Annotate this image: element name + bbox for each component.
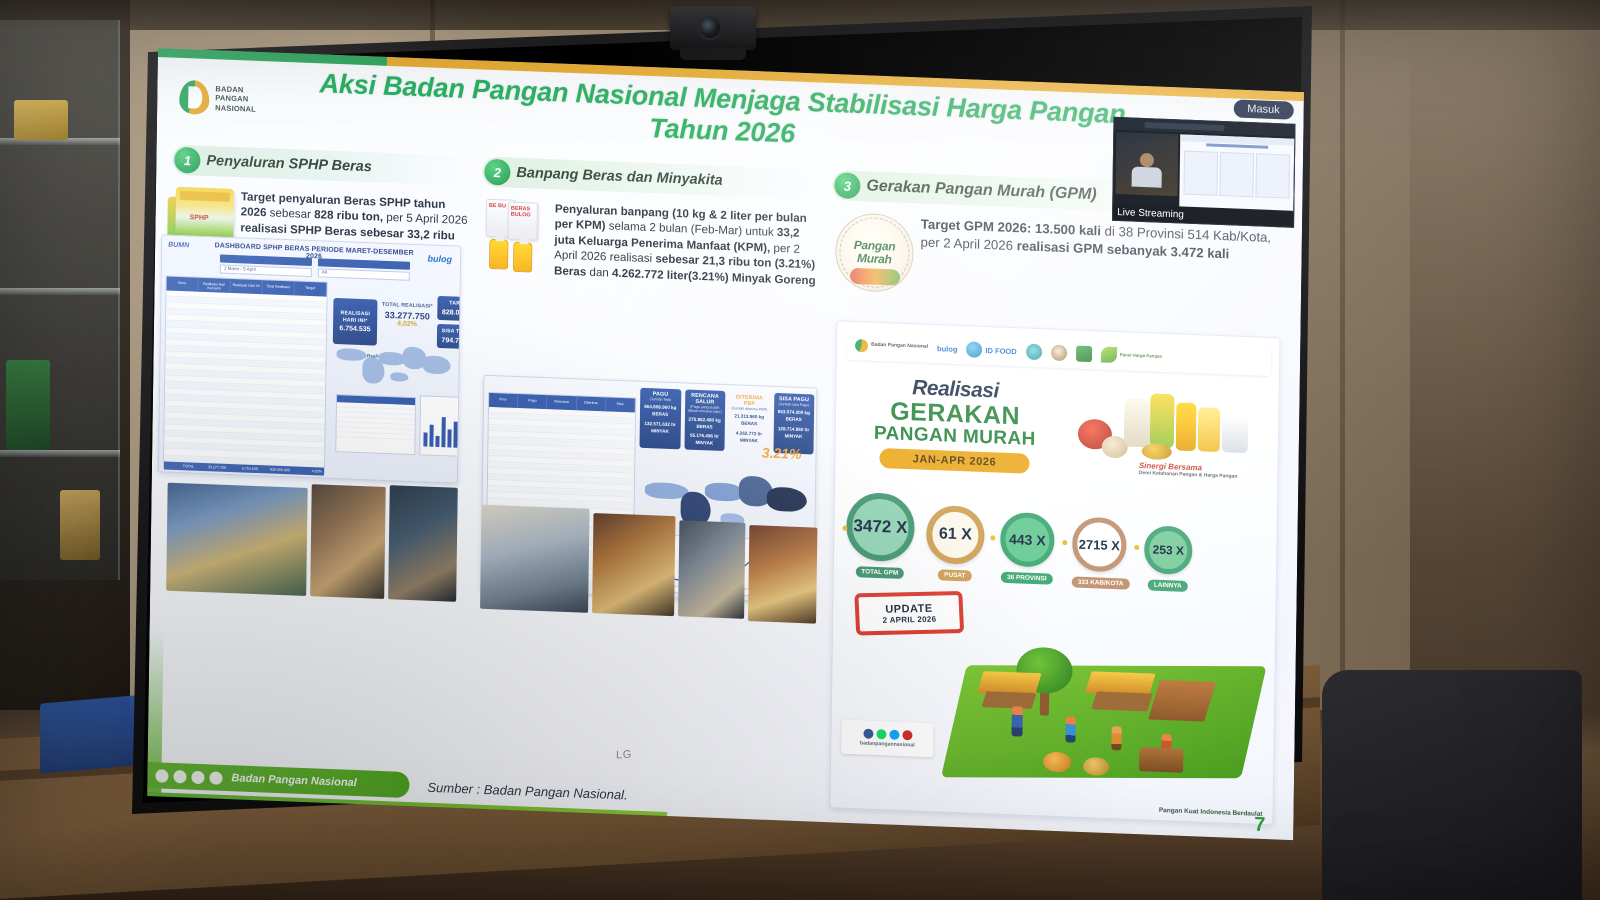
product-cooking-oil (1176, 402, 1197, 451)
section-heading-2: Banpang Beras dan Minyakita (516, 165, 723, 189)
pip-screen-share (1179, 134, 1294, 212)
threads-icon[interactable] (155, 769, 168, 783)
col-header: Target (294, 281, 326, 296)
section-heading-3: Gerakan Pangan Murah (GPM) (866, 177, 1097, 204)
source-note: Sumber : Badan Pangan Nasional. (427, 780, 627, 803)
region-mini-table (335, 394, 416, 455)
stamp-line-2: 2 APRIL 2026 (882, 614, 936, 624)
screen-content: BADAN PANGAN NASIONAL Aksi Badan Pangan … (147, 48, 1304, 840)
realisasi-percentage: 3.21% (762, 444, 802, 462)
gpm-infographic-panel: Badan Pangan Nasional bulog ID FOOD (829, 320, 1280, 825)
section-heading-1: Penyaluran SPHP Beras (206, 153, 372, 175)
person-figure (1012, 706, 1023, 736)
market-cart (1139, 747, 1183, 773)
badge-value: 253 X (1144, 525, 1193, 575)
section-number-3: 3 (834, 172, 860, 199)
produce-pile (1043, 751, 1071, 772)
section-number-2: 2 (484, 159, 510, 186)
x-icon[interactable] (209, 771, 222, 785)
product-rice-pack (1124, 398, 1151, 447)
footer-brand-name: Badan Pangan Nasional (231, 772, 356, 789)
cabinet-trophy (14, 100, 68, 140)
badge-pusat: 61 X PUSAT (926, 505, 985, 583)
rumah-pangan-icon (1076, 345, 1092, 362)
weekly-bar-chart (419, 395, 460, 457)
badge-value: 61 X (926, 505, 985, 565)
logo-line-3: NASIONAL (215, 103, 256, 114)
presentation-slide: BADAN PANGAN NASIONAL Aksi Badan Pangan … (147, 48, 1304, 840)
activity-photo (678, 520, 745, 619)
organization-logo: BADAN PANGAN NASIONAL (179, 73, 276, 125)
panel-harga-icon (1101, 346, 1117, 363)
badge-label: 333 KAB/KOTA (1072, 576, 1130, 589)
live-stream-pip[interactable]: Live Streaming (1112, 117, 1296, 228)
logo-bulog: bulog (937, 344, 958, 354)
webcam-mount (680, 48, 746, 60)
province-data-table: Divre Realisasi Hari Kemarin Realisasi H… (163, 275, 328, 473)
badge-total-gpm: 3472 X TOTAL GPM (846, 492, 915, 581)
section-header-2: 2 Banpang Beras dan Minyakita (482, 157, 822, 200)
pangan-murah-seal-icon: PanganMurah (835, 212, 914, 293)
section-text-2: Penyaluran banpang (10 kg & 2 liter per … (554, 201, 818, 288)
tiktok-icon[interactable] (191, 770, 204, 784)
pip-camera-feed (1115, 132, 1178, 196)
bar-series (423, 408, 461, 448)
organization-logo-text: BADAN PANGAN NASIONAL (215, 84, 256, 114)
bulog-logo: bulog (428, 253, 453, 264)
activity-photo (310, 484, 386, 599)
product-sphp-pack (1150, 393, 1175, 448)
hero-period-pill: JAN-APR 2026 (879, 447, 1029, 473)
section-number-1: 1 (174, 147, 200, 174)
indonesia-map (334, 330, 455, 397)
rencana-salur-card: RENCANA SALUR (Pagu yang sudah dibuat re… (684, 389, 725, 451)
gpm-statistics-badges: 3472 X TOTAL GPM 61 X PUSAT 443 X 36 PRO… (840, 486, 1273, 589)
logo-bumn-pangan (1026, 344, 1042, 361)
bpn-leaf-icon (855, 338, 868, 352)
social-handle: badanpangannasional (860, 740, 915, 748)
produce-pile (1083, 757, 1109, 776)
facebook-icon[interactable] (863, 729, 873, 739)
logo-rumah-pangan (1076, 345, 1092, 362)
activity-photo (388, 485, 458, 602)
section-body-2: BE BU BERAS BULOG Penyaluran banpang (10… (481, 199, 822, 289)
page-number: 7 (1254, 814, 1265, 837)
sphp-dashboard-screenshot: BUMN DASHBOARD SPHP BERAS PERIODE MARET-… (158, 234, 461, 484)
activity-photo (592, 513, 675, 616)
kpi-target: TARGET* 828.000.000 (437, 296, 461, 322)
youtube-icon[interactable] (902, 730, 912, 740)
logo-gerakan-pangan-murah (1051, 345, 1067, 362)
table-body (164, 290, 326, 467)
badge-value: 2715 X (1072, 516, 1127, 572)
badge-label: 36 PROVINSI (1001, 572, 1053, 585)
social-icons-row (863, 729, 912, 741)
activity-photo (166, 483, 308, 596)
logo-id-food: ID FOOD (966, 341, 1016, 359)
cabinet-object (60, 490, 100, 560)
beras-bulog-and-oil-icon: BE BU BERAS BULOG (485, 199, 548, 278)
gpm-seal-icon (1051, 345, 1067, 362)
badge-333-kab-kota: 2715 X 333 KAB/KOTA (1072, 516, 1131, 590)
filter-period[interactable]: 1 Maret - 5 April (220, 265, 312, 278)
product-sugar-pack (1222, 414, 1249, 453)
section-header-1: 1 Penyaluran SPHP Beras (172, 145, 474, 187)
badge-lainnya: 253 X LAINNYA (1144, 525, 1193, 593)
badge-label: TOTAL GPM (855, 566, 904, 579)
market-stall-table (982, 691, 1037, 709)
bpn-leaf-icon (179, 80, 209, 115)
col-header: Divre (166, 276, 198, 291)
youtube-icon[interactable] (173, 770, 186, 784)
twitter-icon[interactable] (889, 730, 899, 740)
webcam (670, 6, 756, 50)
section-text-3: Target GPM 2026: 13.500 kali di 38 Provi… (920, 215, 1284, 307)
badge-label: PUSAT (938, 569, 971, 581)
kpi-total-realisasi: TOTAL REALISASI* 33.277.750 4,02% (381, 302, 433, 329)
stamp-line-1: UPDATE (885, 602, 933, 615)
logo-badan-pangan-nasional: Badan Pangan Nasional (855, 338, 928, 354)
col-header: Realisasi Hari Ini (230, 279, 262, 294)
logo-panel-harga-pangan: Panel Harga Pangan (1101, 346, 1163, 364)
update-stamp: UPDATE 2 APRIL 2026 (854, 591, 964, 635)
section-column-2: 2 Banpang Beras dan Minyakita BE BU BERA… (481, 157, 823, 289)
television-display: LG BADAN PANGAN NASIONAL Aksi Badan Pang… (96, 6, 1316, 816)
activity-photo (480, 505, 590, 613)
id-food-icon (966, 341, 982, 358)
person-figure (1111, 726, 1121, 750)
section-body-3: PanganMurah Target GPM 2026: 13.500 kali… (831, 212, 1288, 308)
cabinet-plaque (6, 360, 50, 450)
tv-brand-label: LG (616, 749, 632, 762)
badge-value: 3472 X (846, 492, 915, 563)
gpm-hero-title: Realisasi GERAKAN PANGAN MURAH JAN-APR 2… (849, 374, 1060, 475)
login-button[interactable]: Masuk (1233, 99, 1294, 119)
produce-eggs (1142, 443, 1172, 460)
market-stall-booth (1148, 680, 1216, 722)
bumn-pangan-icon (1026, 344, 1042, 361)
pagu-card: PAGU (Jumlah Tepi) 864.808.960 kg BERAS … (639, 388, 680, 450)
social-handle-chip: badanpangannasional (841, 720, 933, 758)
badge-label: LAINNYA (1148, 579, 1188, 592)
product-oil-bottle (1198, 407, 1221, 452)
market-stall-table (1091, 691, 1152, 711)
badge-36-provinsi: 443 X 36 PROVINSI (1000, 512, 1055, 586)
activity-photo (748, 525, 817, 624)
webcam-lens-icon (698, 16, 722, 40)
whatsapp-icon[interactable] (876, 729, 886, 739)
bumn-logo: BUMN (168, 242, 189, 250)
badge-value: 443 X (1000, 512, 1055, 568)
filter-region[interactable]: All (318, 268, 410, 281)
col-header: Total Realisasi (262, 280, 294, 295)
partner-logos-strip: Badan Pangan Nasional bulog ID FOOD (847, 330, 1271, 376)
col-header: Realisasi Hari Kemarin (198, 278, 230, 293)
person-figure (1065, 716, 1075, 742)
office-chair (1322, 670, 1582, 900)
